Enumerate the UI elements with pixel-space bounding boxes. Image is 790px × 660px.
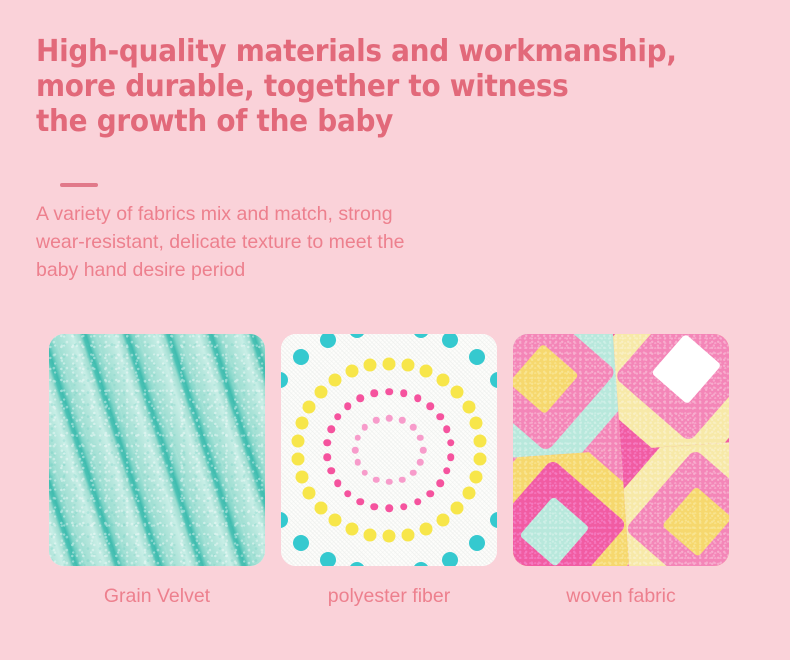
fabric-swatch-velvet xyxy=(49,334,265,566)
woven-fiber-noise xyxy=(513,334,729,566)
fabric-feature-banner: High-quality materials and workmanship, … xyxy=(0,0,790,660)
fabric-swatch-polyester xyxy=(281,334,497,566)
title-divider xyxy=(60,183,98,187)
page-title: High-quality materials and workmanship, … xyxy=(36,34,715,139)
caption-velvet: Grain Velvet xyxy=(49,583,265,609)
caption-woven: woven fabric xyxy=(513,583,729,609)
fabric-swatch-woven xyxy=(513,334,729,566)
velvet-fiber-noise xyxy=(49,334,265,566)
fabric-swatch-row xyxy=(49,334,729,566)
caption-polyester: polyester fiber xyxy=(281,583,497,609)
subtitle-text: A variety of fabrics mix and match, stro… xyxy=(36,200,596,284)
fabric-caption-row: Grain Velvet polyester fiber woven fabri… xyxy=(49,583,729,609)
